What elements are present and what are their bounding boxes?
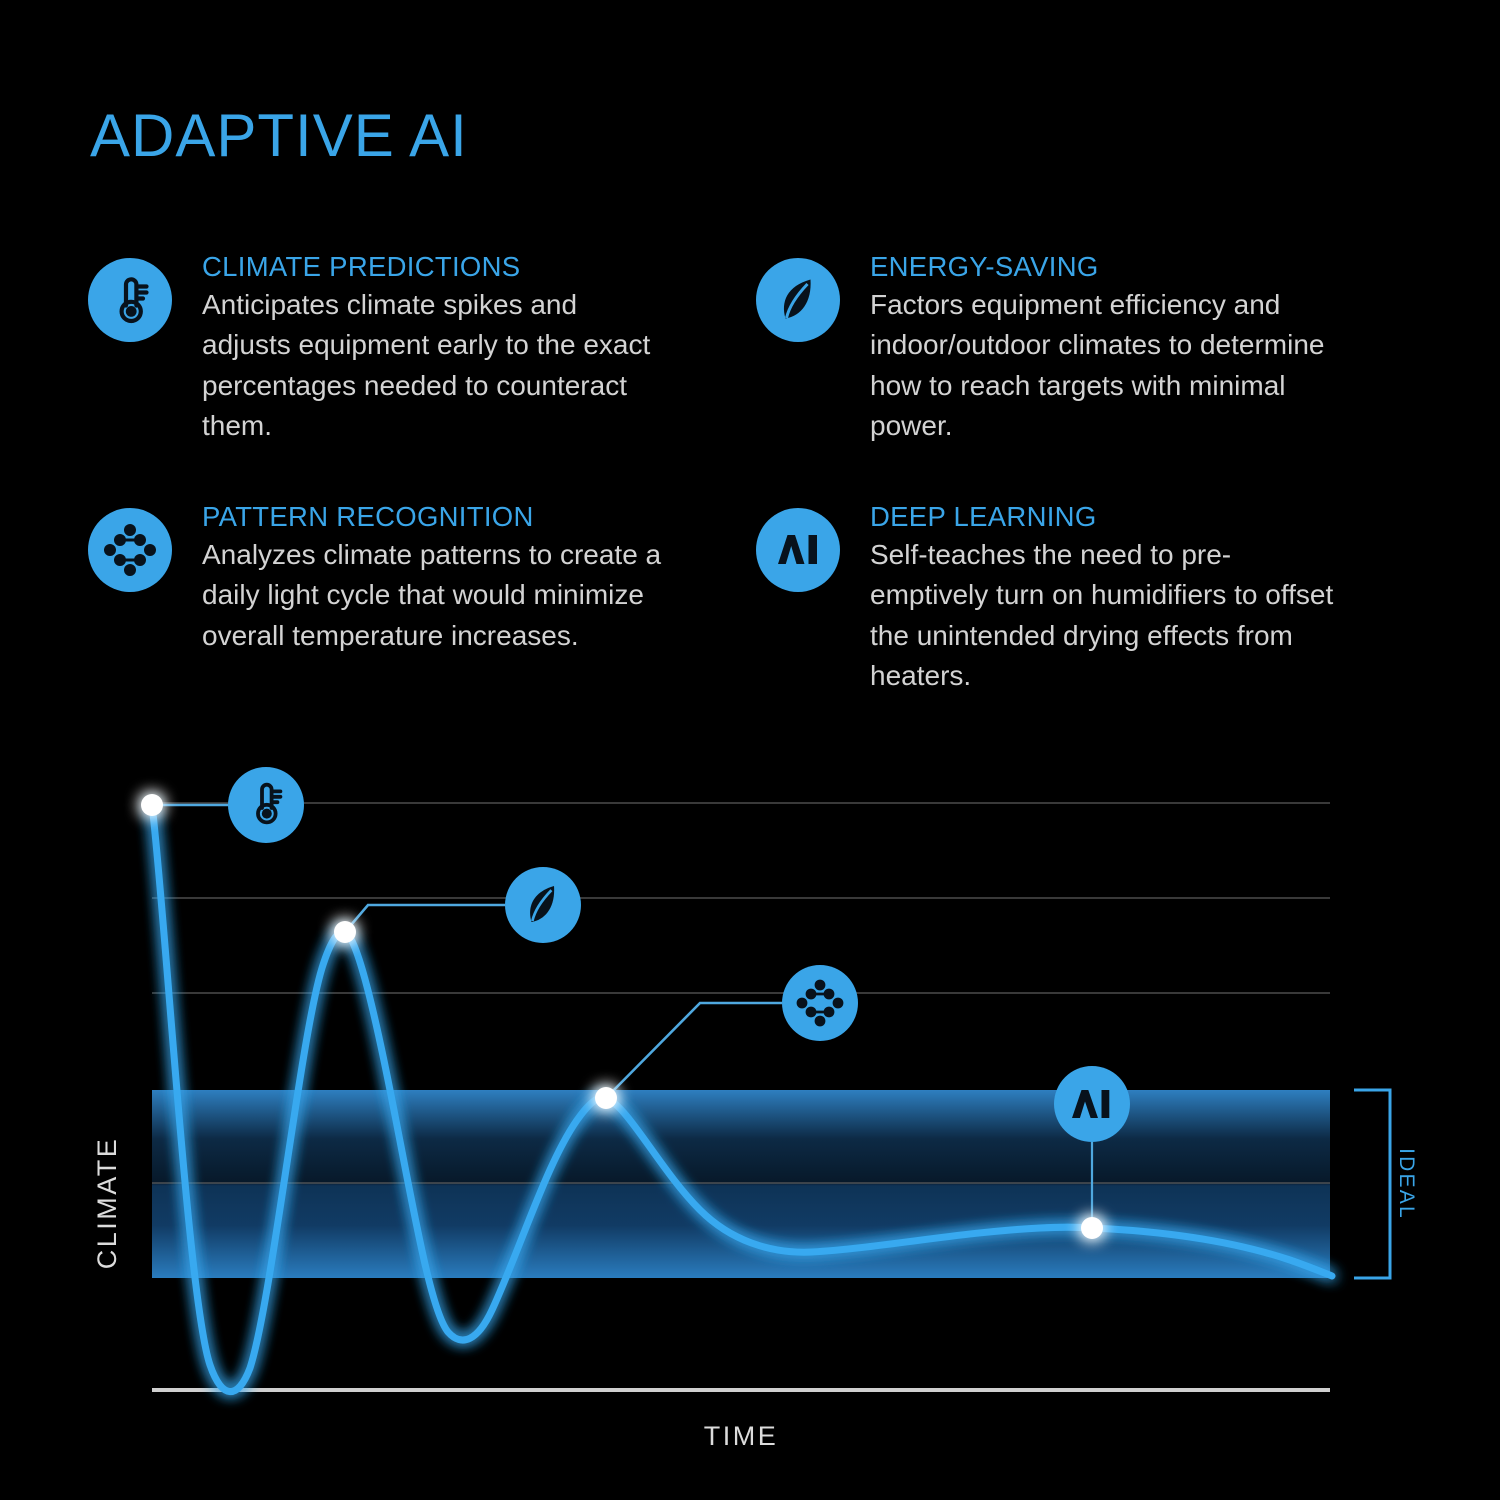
pattern-nodes-icon-badge (782, 965, 858, 1041)
feature-body: Factors equipment efficiency and indoor/… (870, 285, 1340, 447)
callout-ai (1054, 1066, 1130, 1142)
leader-line-energy-saving (345, 905, 505, 932)
pattern-nodes-icon (88, 508, 172, 592)
data-point-energy-saving (334, 921, 356, 943)
feature-text: ENERGY-SAVING Factors equipment efficien… (870, 252, 1340, 447)
thermometer-icon (88, 258, 172, 342)
leader-line-pattern-recognition (606, 1003, 782, 1098)
feature-pattern-recognition: PATTERN RECOGNITION Analyzes climate pat… (88, 502, 756, 752)
feature-text: DEEP LEARNING Self-teaches the need to p… (870, 502, 1340, 697)
infographic-page: ADAPTIVE AI CLIMATE PREDICTIONS (0, 0, 1500, 1500)
feature-text: CLIMATE PREDICTIONS Anticipates climate … (202, 252, 672, 447)
feature-body: Self-teaches the need to pre-emptively t… (870, 535, 1340, 697)
ideal-bracket (1354, 1090, 1390, 1278)
ideal-band (152, 1090, 1330, 1278)
feature-climate-predictions: CLIMATE PREDICTIONS Anticipates climate … (88, 252, 756, 502)
feature-heading: DEEP LEARNING (870, 502, 1340, 532)
data-point-deep-learning (1081, 1217, 1103, 1239)
data-point-climate-predictions (141, 794, 163, 816)
feature-heading: PATTERN RECOGNITION (202, 502, 672, 532)
feature-text: PATTERN RECOGNITION Analyzes climate pat… (202, 502, 672, 656)
feature-deep-learning: DEEP LEARNING Self-teaches the need to p… (756, 502, 1418, 752)
feature-heading: ENERGY-SAVING (870, 252, 1340, 282)
feature-energy-saving: ENERGY-SAVING Factors equipment efficien… (756, 252, 1418, 502)
ai-icon (756, 508, 840, 592)
feature-body: Analyzes climate patterns to create a da… (202, 535, 672, 657)
ideal-label: IDEAL (1395, 1148, 1418, 1220)
callout-thermometer (228, 767, 304, 843)
climate-chart: IDEAL CLIMATE TIME (0, 740, 1500, 1500)
feature-grid: CLIMATE PREDICTIONS Anticipates climate … (88, 252, 1418, 752)
feature-body: Anticipates climate spikes and adjusts e… (202, 285, 672, 447)
leaf-icon (756, 258, 840, 342)
callout-pattern (782, 965, 858, 1041)
x-axis-label: TIME (704, 1421, 779, 1451)
data-point-pattern-recognition (595, 1087, 617, 1109)
feature-heading: CLIMATE PREDICTIONS (202, 252, 672, 282)
page-title: ADAPTIVE AI (90, 106, 468, 166)
y-axis-label: CLIMATE (92, 1137, 122, 1270)
callout-leaf (505, 867, 581, 943)
